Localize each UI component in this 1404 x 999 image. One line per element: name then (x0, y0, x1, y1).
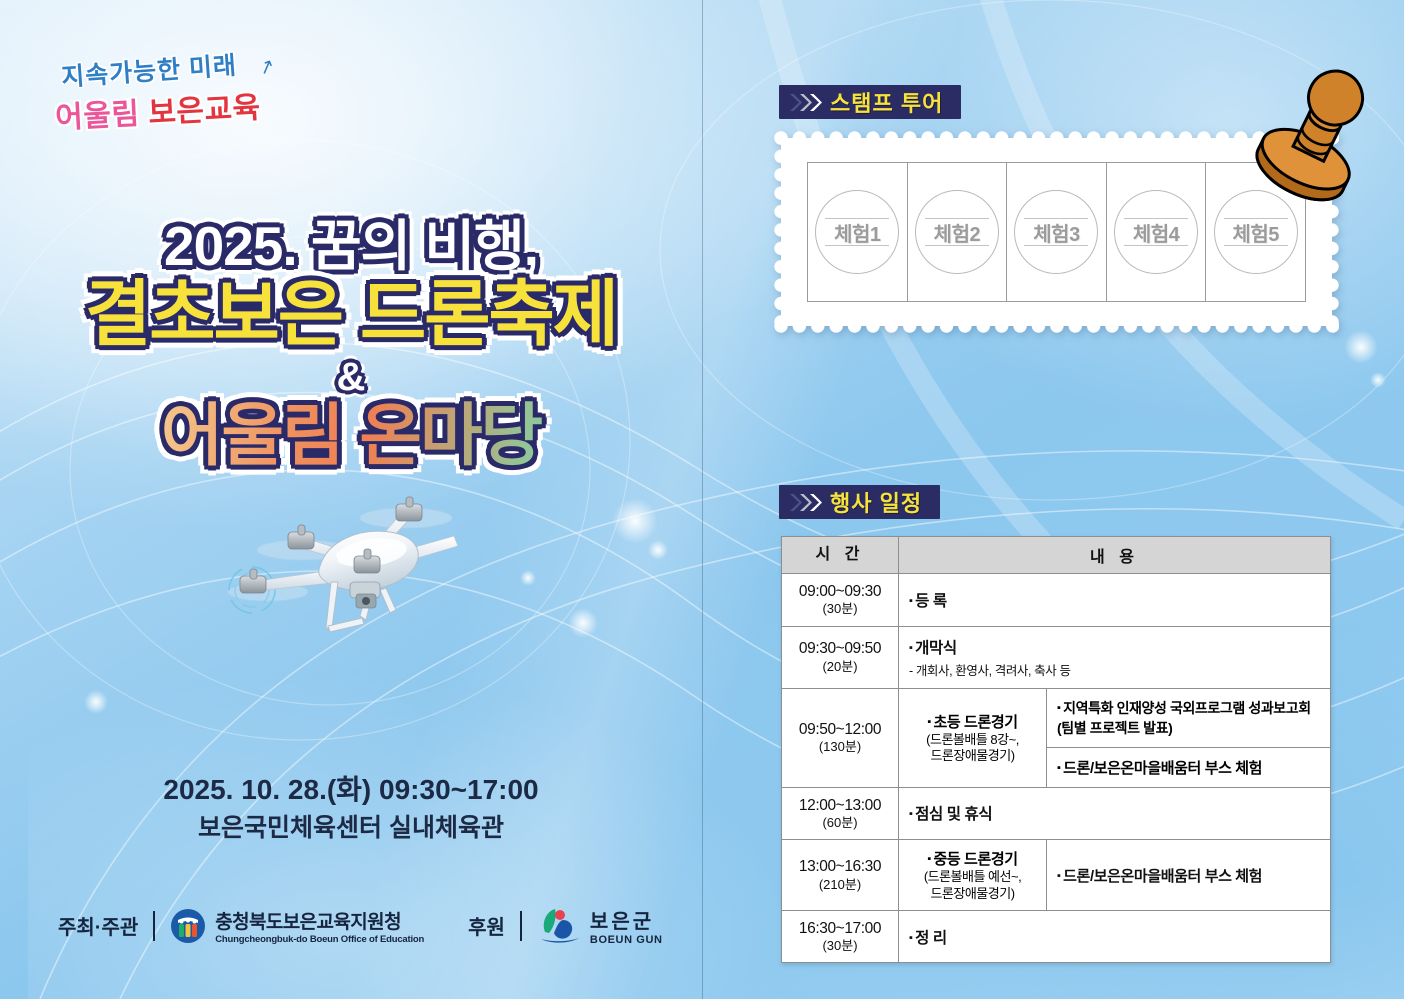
cell-competition: 중등 드론경기 (드론볼배틀 예선~, 드론장애물경기) (899, 840, 1047, 911)
activity-text: 드론/보은온마을배움터 부스 체험 (1057, 757, 1320, 778)
host-org-name-en: Chungcheongbuk-do Boeun Office of Educat… (215, 934, 424, 945)
time-duration: (30분) (784, 938, 896, 954)
cell-activities: 드론/보은온마을배움터 부스 체험 (1047, 840, 1331, 911)
rubber-stamp-seal-icon (1243, 52, 1393, 217)
triple-chevron-right-icon (789, 493, 819, 512)
title-line-3-fill: 어울림 온마당 (0, 401, 702, 475)
content-title: 정 리 (909, 926, 1320, 948)
time-duration: (130분) (784, 739, 896, 755)
sponsor-organization: 보은군 BOEUN GUN (537, 905, 663, 946)
content-detail: (드론볼배틀 예선~, 드론장애물경기) (905, 869, 1040, 902)
host-label: 주최·주관 (58, 911, 138, 940)
cell-time: 13:00~16:30 (210분) (782, 840, 899, 911)
cell-time: 09:30~09:50 (20분) (782, 626, 899, 688)
table-row: 09:50~12:00 (130분) 초등 드론경기 (드론볼배틀 8강~, 드… (782, 688, 1331, 787)
time-range: 12:00~13:00 (784, 796, 896, 815)
title-ampersand: & (0, 357, 702, 397)
time-range: 16:30~17:00 (784, 919, 896, 938)
activity-cell: 지역특화 인재양성 국외프로그램 성과보고회 (팀별 프로젝트 발표) (1047, 689, 1330, 748)
content-title: 중등 드론경기 (905, 848, 1040, 869)
content-title: 점심 및 휴식 (909, 802, 1320, 824)
cell-content: 점심 및 휴식 (899, 787, 1331, 840)
activity-text: 지역특화 인재양성 국외프로그램 성과보고회 (팀별 프로젝트 발표) (1057, 698, 1320, 738)
time-range: 09:30~09:50 (784, 639, 896, 658)
table-row: 09:00~09:30 (30분) 등 록 (782, 574, 1331, 627)
poster-canvas: 지속가능한 미래 ↗ 어울림 보은교육 2025. 꿈의 비행, 결초보은 드론… (0, 0, 1404, 999)
schedule-table: 시 간 내 용 09:00~09:30 (30분) 등 록 09:30~09:5… (781, 536, 1331, 963)
cell-content: 등 록 (899, 574, 1331, 627)
drone-quadcopter-illustration (210, 470, 510, 670)
table-header-row: 시 간 내 용 (782, 537, 1331, 574)
activity-row: 드론/보은온마을배움터 부스 체험 (1047, 747, 1330, 787)
column-header-content: 내 용 (899, 537, 1331, 574)
activity-row: 지역특화 인재양성 국외프로그램 성과보고회 (팀별 프로젝트 발표) (1047, 689, 1330, 748)
cell-competition: 초등 드론경기 (드론볼배틀 8강~, 드론장애물경기) (899, 688, 1047, 787)
time-range: 09:00~09:30 (784, 582, 896, 601)
host-org-text: 충청북도보은교육지원청 Chungcheongbuk-do Boeun Offi… (215, 907, 424, 945)
title-line-2: 결초보은 드론축제 (0, 278, 702, 353)
footer-divider-2 (520, 911, 522, 941)
host-org-name-ko: 충청북도보은교육지원청 (215, 907, 424, 934)
time-duration: (60분) (784, 815, 896, 831)
boeun-gun-logo-icon (537, 906, 581, 946)
left-panel: 지속가능한 미래 ↗ 어울림 보은교육 2025. 꿈의 비행, 결초보은 드론… (0, 0, 702, 999)
sponsor-org-name-ko: 보은군 (590, 905, 663, 934)
section-header-schedule: 행사 일정 (779, 485, 940, 519)
sponsor-org-name-en: BOEUN GUN (590, 934, 663, 946)
footer-organizations: 주최·주관 충청북도보은교육지원청 Chungcheongbuk-do Boeu… (58, 905, 663, 946)
cell-time: 09:00~09:30 (30분) (782, 574, 899, 627)
cell-time: 09:50~12:00 (130분) (782, 688, 899, 787)
brand-name-part2: 보은교육 (148, 91, 262, 130)
table-row: 13:00~16:30 (210분) 중등 드론경기 (드론볼배틀 예선~, 드… (782, 840, 1331, 911)
main-title-block: 2025. 꿈의 비행, 결초보은 드론축제 & 어울림 온마당 어울림 온마당 (0, 218, 702, 475)
time-duration: (20분) (784, 659, 896, 675)
content-title: 개막식 (909, 636, 1320, 658)
schedule-heading: 행사 일정 (830, 486, 922, 518)
sponsor-org-text: 보은군 BOEUN GUN (590, 905, 663, 946)
cell-time: 16:30~17:00 (30분) (782, 910, 899, 963)
time-range: 13:00~16:30 (784, 857, 896, 876)
cell-activities: 지역특화 인재양성 국외프로그램 성과보고회 (팀별 프로젝트 발표) 드론/보… (1047, 688, 1331, 787)
title-line-1: 2025. 꿈의 비행, (0, 218, 702, 276)
table-row: 16:30~17:00 (30분) 정 리 (782, 910, 1331, 963)
content-title: 등 록 (909, 589, 1320, 611)
cell-time: 12:00~13:00 (60분) (782, 787, 899, 840)
content-title: 초등 드론경기 (905, 711, 1040, 732)
time-duration: (210분) (784, 877, 896, 893)
event-date: 2025. 10. 28.(화) 09:30~17:00 (0, 768, 702, 808)
footer-divider (153, 911, 155, 941)
content-subtitle: - 개회사, 환영사, 격려사, 축사 등 (909, 660, 1320, 679)
activity-text: 드론/보은온마을배움터 부스 체험 (1057, 865, 1320, 886)
activity-subtable: 지역특화 인재양성 국외프로그램 성과보고회 (팀별 프로젝트 발표) 드론/보… (1047, 689, 1330, 787)
time-range: 09:50~12:00 (784, 720, 896, 739)
table-row: 12:00~13:00 (60분) 점심 및 휴식 (782, 787, 1331, 840)
brand-logo: 지속가능한 미래 ↗ 어울림 보은교육 (55, 50, 285, 132)
column-header-time: 시 간 (782, 537, 899, 574)
title-line-3: 어울림 온마당 어울림 온마당 (0, 401, 702, 475)
table-row: 09:30~09:50 (20분) 개막식 - 개회사, 환영사, 격려사, 축… (782, 626, 1331, 688)
event-venue: 보은국민체육센터 실내체육관 (0, 808, 702, 844)
sponsor-label: 후원 (468, 911, 505, 940)
time-duration: (30분) (784, 601, 896, 617)
content-detail: (드론볼배틀 8강~, 드론장애물경기) (905, 732, 1040, 765)
cell-content: 정 리 (899, 910, 1331, 963)
boeun-education-office-logo-icon (170, 908, 206, 944)
cell-content: 개막식 - 개회사, 환영사, 격려사, 축사 등 (899, 626, 1331, 688)
brand-name-part1: 어울림 (54, 98, 140, 135)
activity-cell: 드론/보은온마을배움터 부스 체험 (1047, 747, 1330, 787)
host-organization: 충청북도보은교육지원청 Chungcheongbuk-do Boeun Offi… (170, 907, 424, 945)
